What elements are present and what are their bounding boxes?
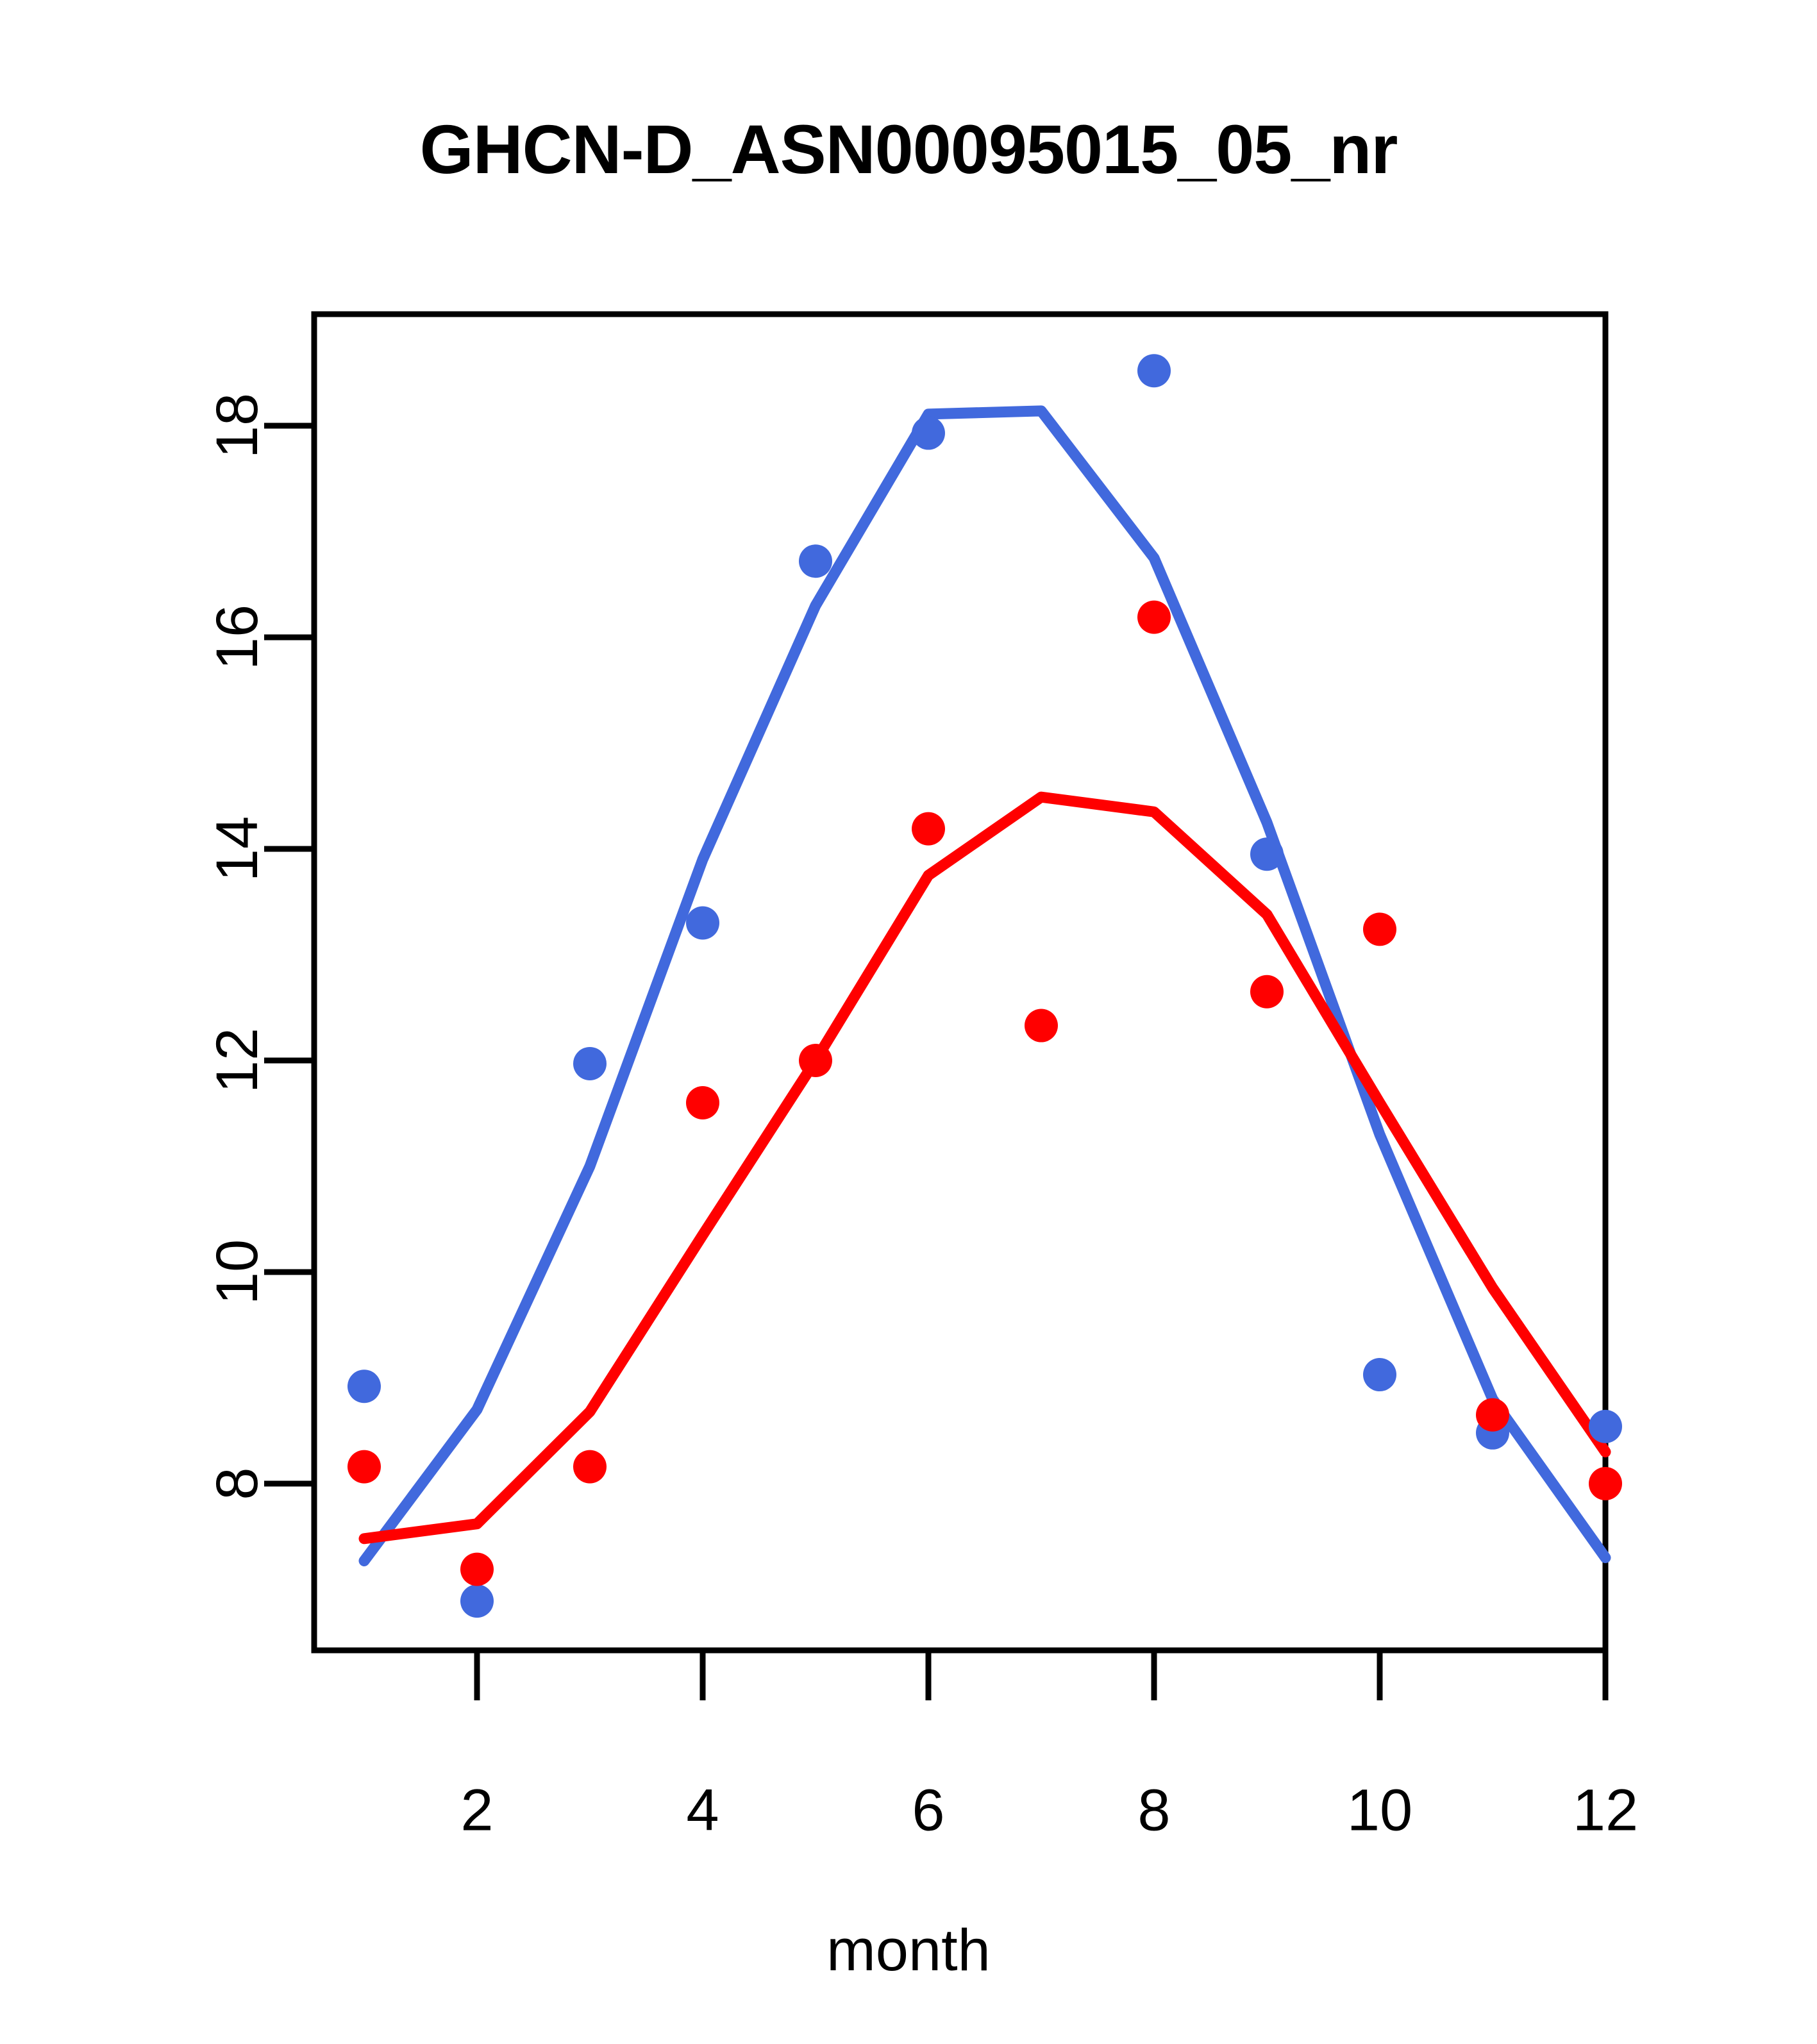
y-tick-label: 12 xyxy=(205,1028,270,1093)
chart-figure: GHCN-D_ASN00095015_05_nr 81012141618 246… xyxy=(0,0,1817,2044)
data-point-red-scatter xyxy=(1363,912,1396,946)
data-point-red-scatter xyxy=(912,812,945,846)
data-point-blue-scatter xyxy=(686,907,719,940)
x-axis-tick-labels: 24681012 xyxy=(460,1778,1638,1843)
series-line-blue-line xyxy=(364,411,1605,1561)
data-point-blue-scatter xyxy=(1250,837,1284,871)
x-tick-label: 12 xyxy=(1573,1778,1638,1843)
y-axis-ticks xyxy=(264,426,314,1484)
data-point-red-scatter xyxy=(573,1450,607,1484)
data-point-red-scatter xyxy=(686,1086,719,1119)
y-tick-label: 8 xyxy=(205,1467,270,1500)
data-point-blue-scatter xyxy=(347,1370,381,1403)
data-point-blue-scatter xyxy=(799,544,832,578)
data-point-red-scatter xyxy=(1589,1467,1622,1500)
x-tick-label: 10 xyxy=(1347,1778,1412,1843)
series-lines xyxy=(364,411,1605,1561)
data-point-blue-scatter xyxy=(460,1584,494,1618)
plot-canvas: 81012141618 24681012 xyxy=(0,0,1817,2044)
y-tick-label: 18 xyxy=(205,393,270,458)
data-point-blue-scatter xyxy=(912,417,945,450)
plot-frame xyxy=(314,314,1605,1650)
y-tick-label: 14 xyxy=(205,816,270,882)
x-axis-label: month xyxy=(0,1917,1817,1984)
x-tick-label: 8 xyxy=(1137,1778,1170,1843)
data-point-red-scatter xyxy=(347,1450,381,1484)
y-axis-tick-labels: 81012141618 xyxy=(205,393,270,1500)
x-axis-ticks xyxy=(477,1650,1605,1700)
data-point-red-scatter xyxy=(799,1044,832,1077)
series-line-red-line xyxy=(364,797,1605,1539)
y-tick-label: 10 xyxy=(205,1239,270,1305)
data-point-red-scatter xyxy=(1025,1009,1058,1043)
series-points xyxy=(347,354,1622,1618)
x-tick-label: 6 xyxy=(912,1778,944,1843)
y-tick-label: 16 xyxy=(205,605,270,670)
data-point-red-scatter xyxy=(1137,601,1171,634)
data-point-red-scatter xyxy=(1250,975,1284,1009)
data-point-red-scatter xyxy=(1476,1398,1509,1432)
x-tick-label: 4 xyxy=(686,1778,719,1843)
data-point-blue-scatter xyxy=(573,1047,607,1080)
x-tick-label: 2 xyxy=(460,1778,493,1843)
data-point-blue-scatter xyxy=(1137,354,1171,387)
data-point-blue-scatter xyxy=(1363,1358,1396,1391)
data-point-red-scatter xyxy=(460,1553,494,1586)
data-point-blue-scatter xyxy=(1589,1410,1622,1443)
